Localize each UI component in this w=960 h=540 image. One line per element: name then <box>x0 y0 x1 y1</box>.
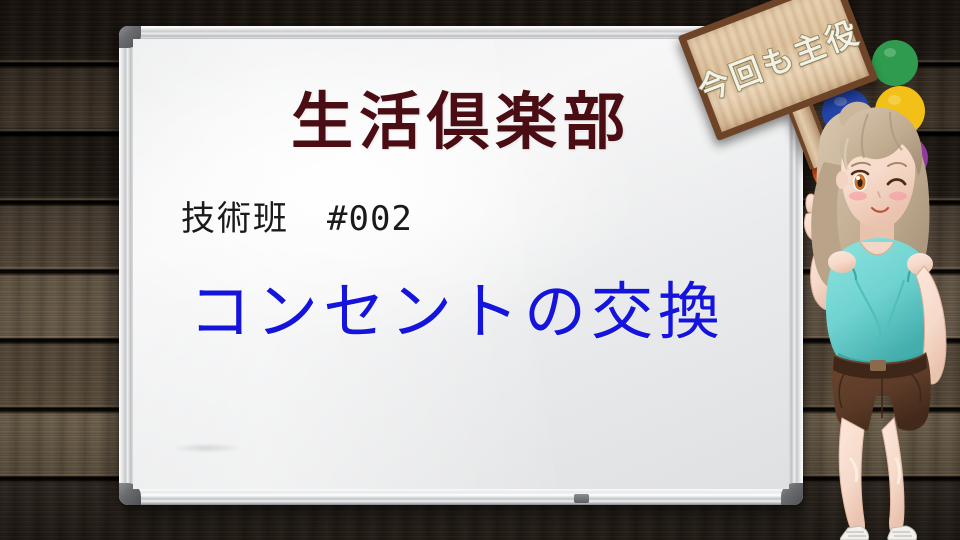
whiteboard-text-group: 生活倶楽部 技術班 #002 コンセントの交換 <box>133 39 789 489</box>
anime-girl-mascot <box>798 66 960 540</box>
whiteboard-frame-left <box>119 30 133 501</box>
whiteboard-frame-bottom <box>123 489 799 505</box>
marker-tray-tab <box>574 494 589 503</box>
character-blush-right <box>889 192 907 201</box>
subtitle-row: 技術班 #002 <box>181 191 413 240</box>
character-sandals <box>840 526 916 540</box>
character-blush-left <box>849 192 867 201</box>
anime-girl-svg <box>798 66 960 540</box>
character-legs <box>839 418 904 536</box>
whiteboard-surface: 生活倶楽部 技術班 #002 コンセントの交換 <box>133 39 789 489</box>
episode-number: #002 <box>327 199 413 239</box>
page-title: 生活倶楽部 <box>133 71 789 161</box>
title-card-stage: 生活倶楽部 技術班 #002 コンセントの交換 今回も主役 <box>0 0 960 540</box>
headline-text: コンセントの交換 <box>189 261 725 351</box>
character-shoulder-left <box>828 251 856 273</box>
section-label: 技術班 <box>181 191 289 240</box>
